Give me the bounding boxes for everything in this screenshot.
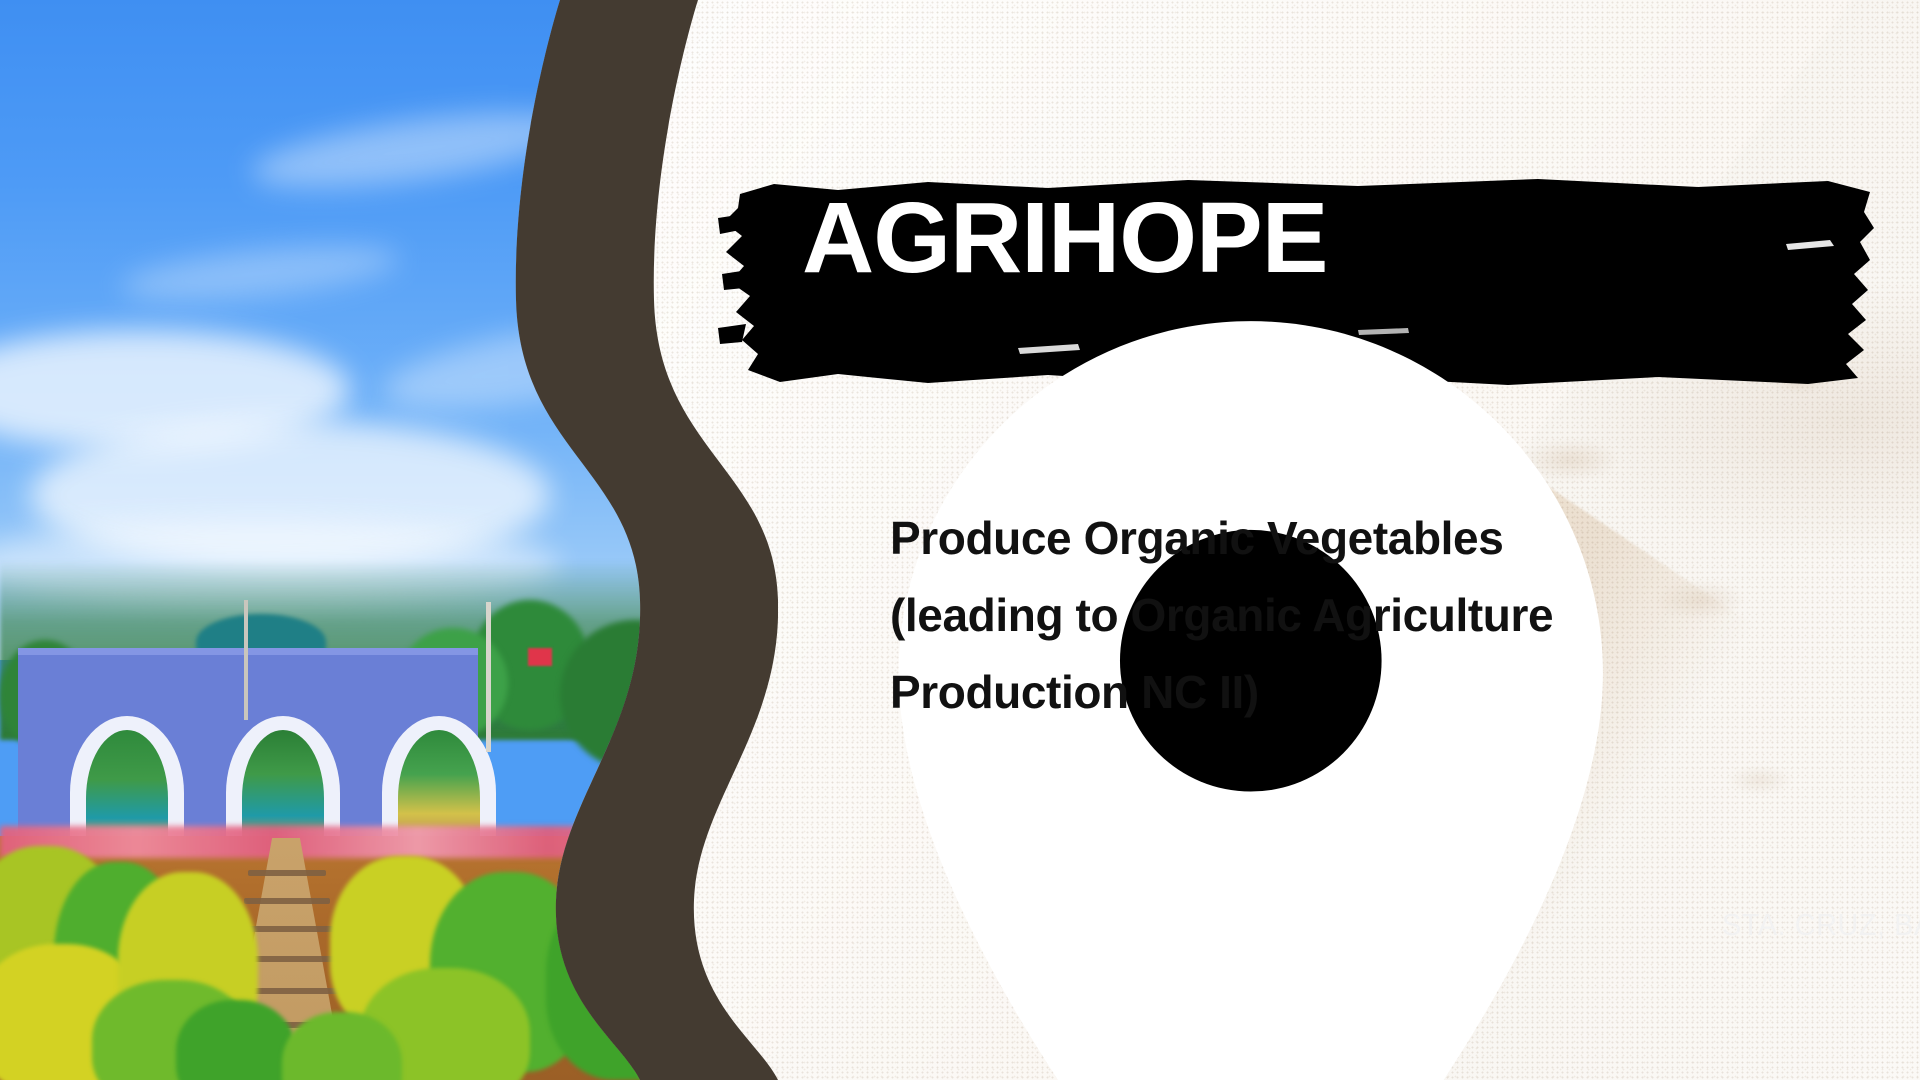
- brush-stroke-banner: AGRIHOPE STA. CRUZ, BARCELONA, SORSOGON: [718, 178, 1878, 390]
- utility-pole: [486, 602, 491, 752]
- banner-content: AGRIHOPE STA. CRUZ, BARCELONA, SORSOGON: [718, 178, 1878, 390]
- slide-root: Agr DOT-A AGRIHOPE: [0, 0, 1920, 1080]
- body-line-1: Produce Organic Vegetables: [890, 500, 1710, 577]
- brand-title: AGRIHOPE: [802, 186, 1327, 290]
- body-copy: Produce Organic Vegetables (leading to O…: [890, 500, 1710, 731]
- body-line-3: Production NC II): [890, 654, 1710, 731]
- location-text: STA. CRUZ, BARCELONA, SORSOGON: [1722, 908, 1920, 942]
- flag-icon: [528, 648, 552, 666]
- path-step: [248, 870, 326, 876]
- path-step: [244, 898, 330, 904]
- body-line-2: (leading to Organic Agriculture: [890, 577, 1710, 654]
- utility-pole: [244, 600, 248, 720]
